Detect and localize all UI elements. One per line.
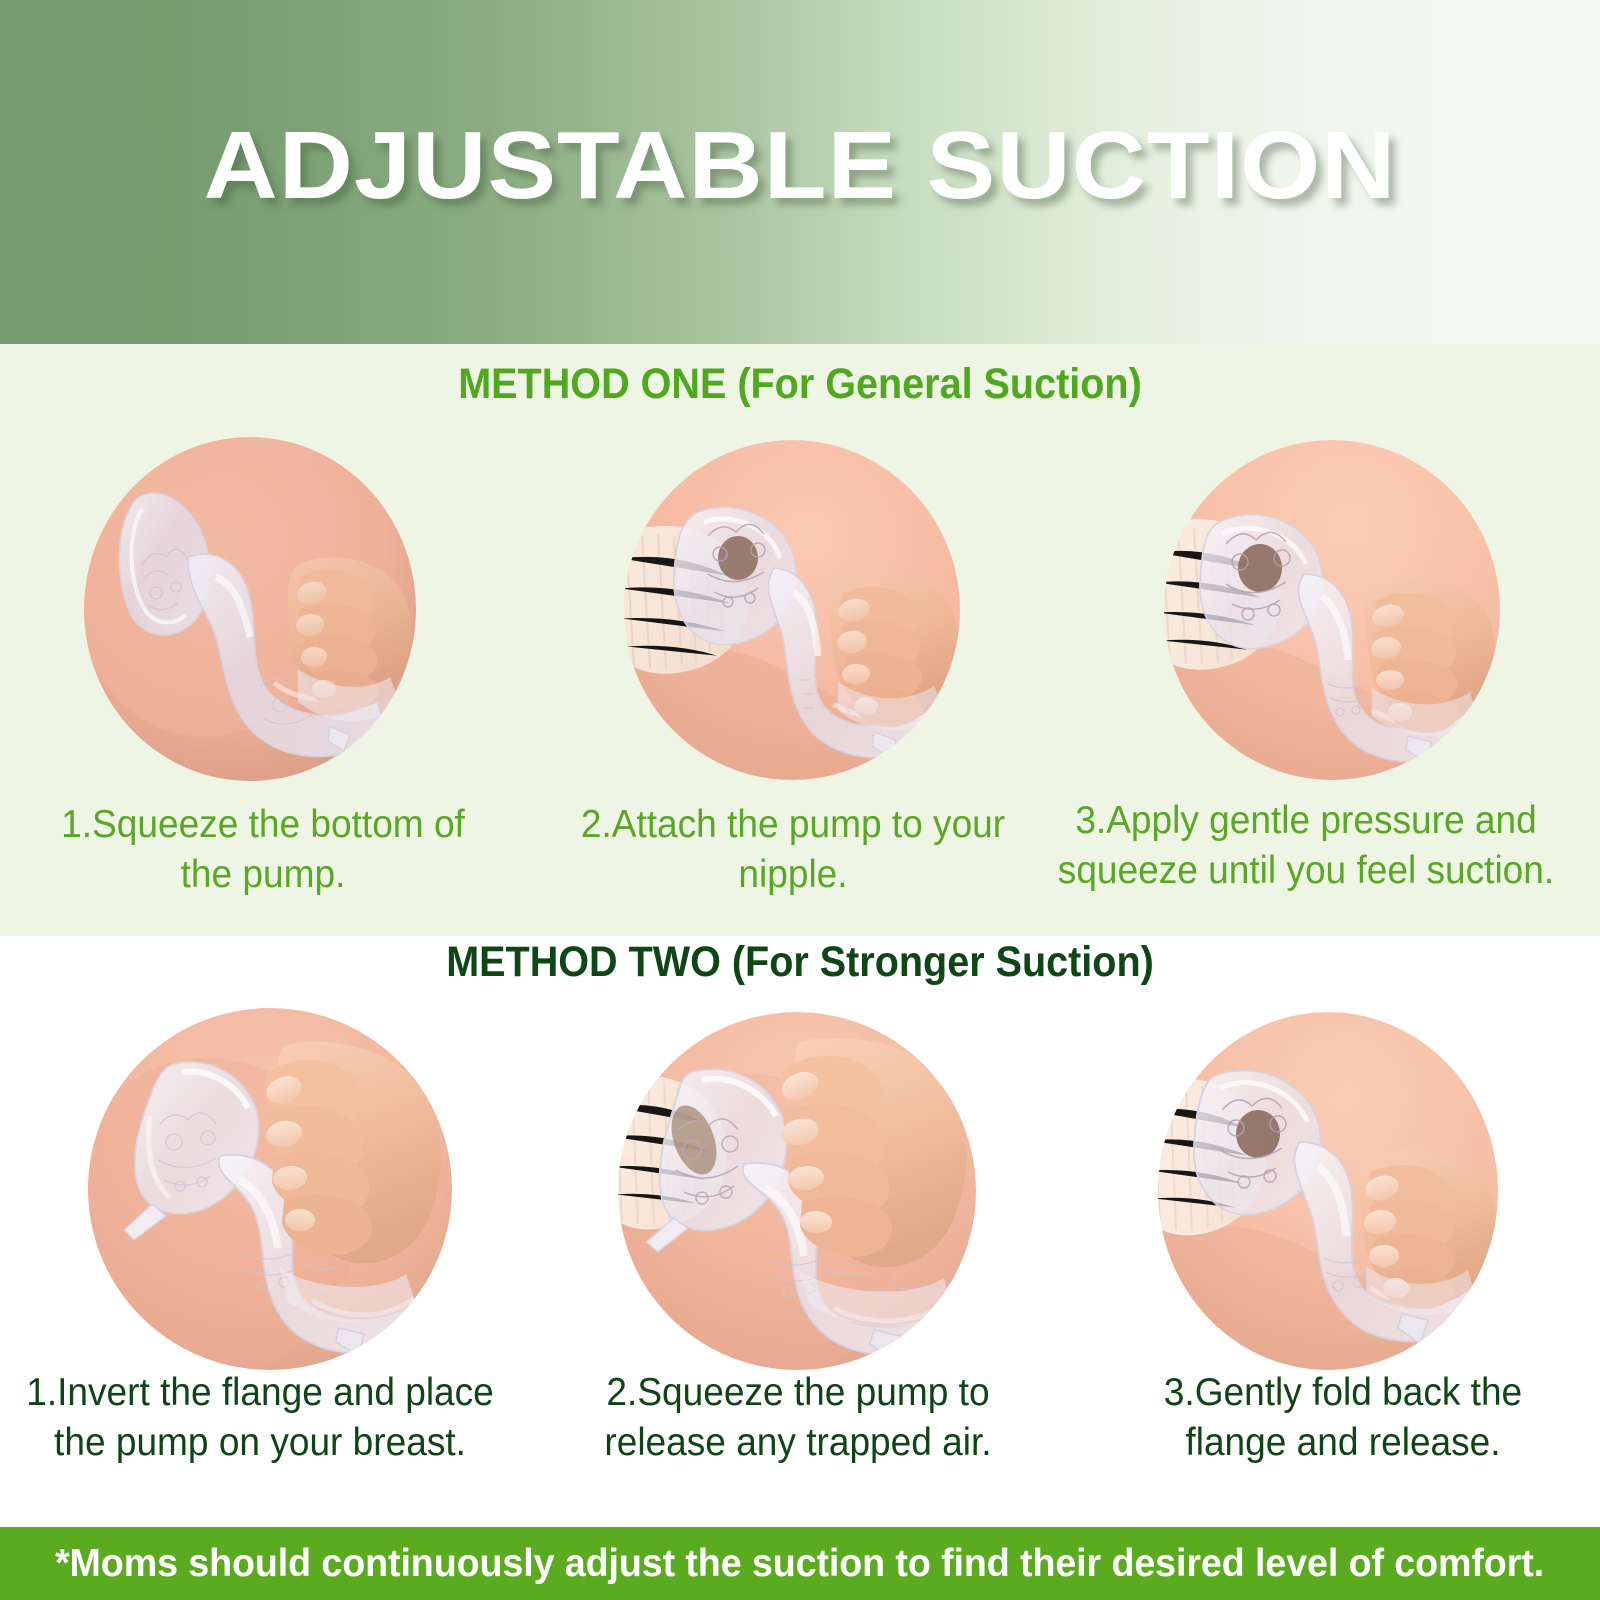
step-caption: 1.Invert the flange and place the pump o… [13, 1368, 507, 1468]
step-caption: 2.Attach the pump to your nipple. [579, 800, 1007, 900]
pump-release-air-photo [618, 1012, 976, 1370]
header-banner: ADJUSTABLE SUCTION [0, 0, 1600, 344]
step-caption: 2.Squeeze the pump to release any trappe… [561, 1368, 1036, 1468]
pump-invert-flange-photo [88, 1008, 452, 1370]
pump-fold-back-flange-photo [1158, 1012, 1498, 1370]
page-title: ADJUSTABLE SUCTION [0, 118, 1600, 214]
method-two-title: METHOD TWO (For Stronger Suction) [64, 941, 1536, 984]
pump-squeeze-bottom-photo [84, 437, 416, 782]
step-caption: 1.Squeeze the bottom of the pump. [40, 800, 487, 900]
step-caption: 3.Apply gentle pressure and squeeze unti… [1042, 796, 1570, 896]
pump-attach-nipple-photo [624, 440, 960, 780]
step-caption: 3.Gently fold back the flange and releas… [1110, 1368, 1576, 1468]
footer-note-bar: *Moms should continuously adjust the suc… [0, 1527, 1600, 1600]
method-one-title: METHOD ONE (For General Suction) [64, 363, 1536, 406]
footer-note-text: *Moms should continuously adjust the suc… [55, 1542, 1544, 1586]
pump-apply-pressure-photo [1164, 440, 1500, 780]
